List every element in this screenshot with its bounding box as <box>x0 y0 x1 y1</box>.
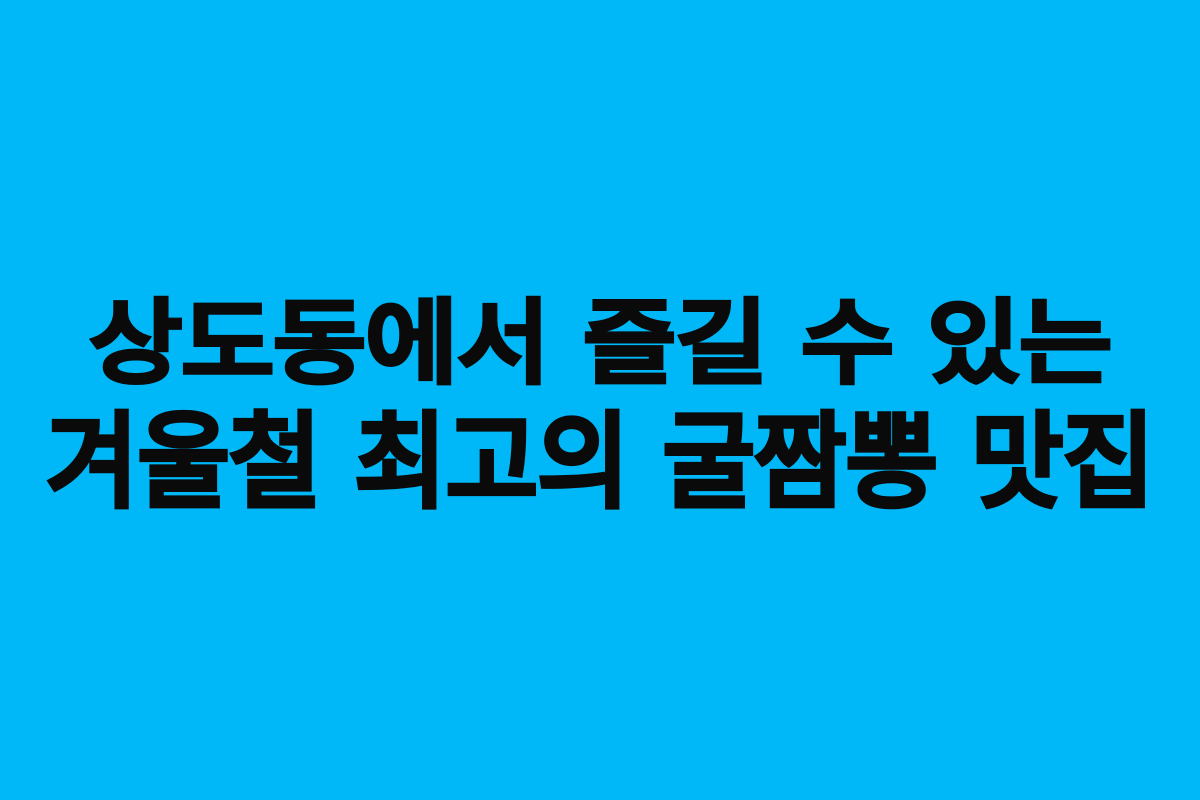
headline-line-1: 상도동에서 즐길 수 있는 <box>89 298 1111 390</box>
headline-block: 상도동에서 즐길 수 있는 겨울철 최고의 굴짬뽕 맛집 <box>0 298 1200 514</box>
headline-line-2: 겨울철 최고의 굴짬뽕 맛집 <box>46 410 1154 514</box>
banner-canvas: 상도동에서 즐길 수 있는 겨울철 최고의 굴짬뽕 맛집 <box>0 0 1200 800</box>
